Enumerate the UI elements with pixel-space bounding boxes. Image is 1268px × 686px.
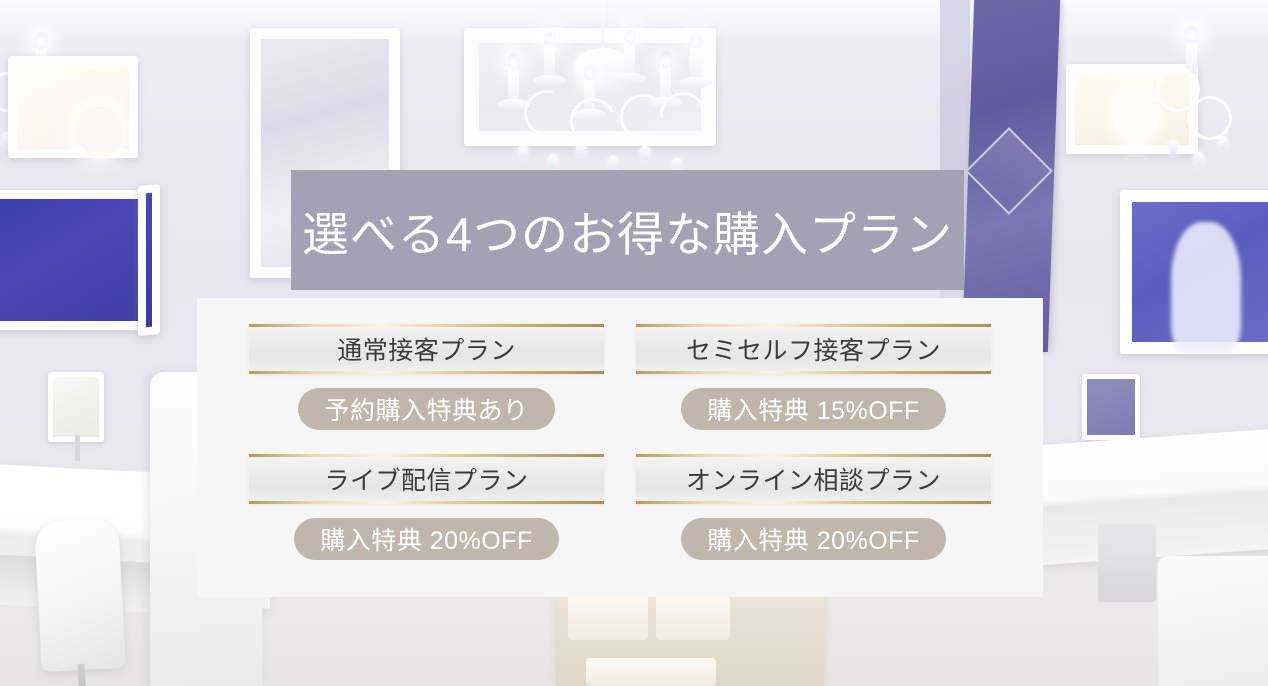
chair-right (1158, 556, 1268, 686)
plan-header: セミセルフ接客プラン (636, 324, 991, 374)
plan-card-regular[interactable]: 通常接客プラン 予約購入特典あり (249, 324, 604, 430)
plan-title: オンライン相談プラン (686, 461, 941, 497)
plan-benefit-badge: 予約購入特典あり (298, 388, 554, 430)
wall-sconce-right-icon (1126, 22, 1258, 192)
framed-panel-left-narrow (138, 184, 160, 336)
storage-bin-right (1098, 524, 1156, 602)
page-stage: 選べる4つのお得な購入プラン 通常接客プラン 予約購入特典あり セミセルフ接客プ… (0, 0, 1268, 686)
framed-window-left (0, 190, 148, 330)
plan-card-online-consult[interactable]: オンライン相談プラン 購入特典 20%OFF (636, 454, 991, 560)
salon-chair-left (34, 518, 126, 672)
framed-mirror-upper-left (8, 56, 138, 158)
plan-title: ライブ配信プラン (324, 461, 528, 497)
chandelier-icon (500, 0, 706, 174)
plan-header: オンライン相談プラン (636, 454, 991, 504)
plan-benefit-badge: 購入特典 20%OFF (681, 518, 945, 560)
plan-title: 通常接客プラン (337, 331, 516, 367)
page-title: 選べる4つのお得な購入プラン (302, 196, 953, 265)
vanity-mirror-left (48, 372, 104, 442)
plan-benefit-text: 予約購入特典あり (324, 391, 528, 427)
plan-card-semi-self[interactable]: セミセルフ接客プラン 購入特典 15%OFF (636, 324, 991, 430)
plan-benefit-text: 購入特典 15%OFF (707, 391, 919, 427)
plan-benefit-badge: 購入特典 20%OFF (294, 518, 558, 560)
plan-title: セミセルフ接客プラン (686, 331, 941, 367)
plan-header: ライブ配信プラン (249, 454, 604, 504)
plan-benefit-badge: 購入特典 15%OFF (681, 388, 945, 430)
plan-header: 通常接客プラン (249, 324, 604, 374)
plans-grid: 通常接客プラン 予約購入特典あり セミセルフ接客プラン 購入特典 15%OFF … (249, 324, 991, 560)
plan-card-live-streaming[interactable]: ライブ配信プラン 購入特典 20%OFF (249, 454, 604, 560)
plans-panel: 通常接客プラン 予約購入特典あり セミセルフ接客プラン 購入特典 15%OFF … (197, 298, 1043, 597)
hero-title-banner: 選べる4つのお得な購入プラン (291, 170, 964, 290)
vanity-mirror-right (1082, 374, 1140, 440)
framed-portrait-right (1120, 190, 1268, 354)
plan-benefit-text: 購入特典 20%OFF (320, 521, 532, 557)
plan-benefit-text: 購入特典 20%OFF (707, 521, 919, 557)
